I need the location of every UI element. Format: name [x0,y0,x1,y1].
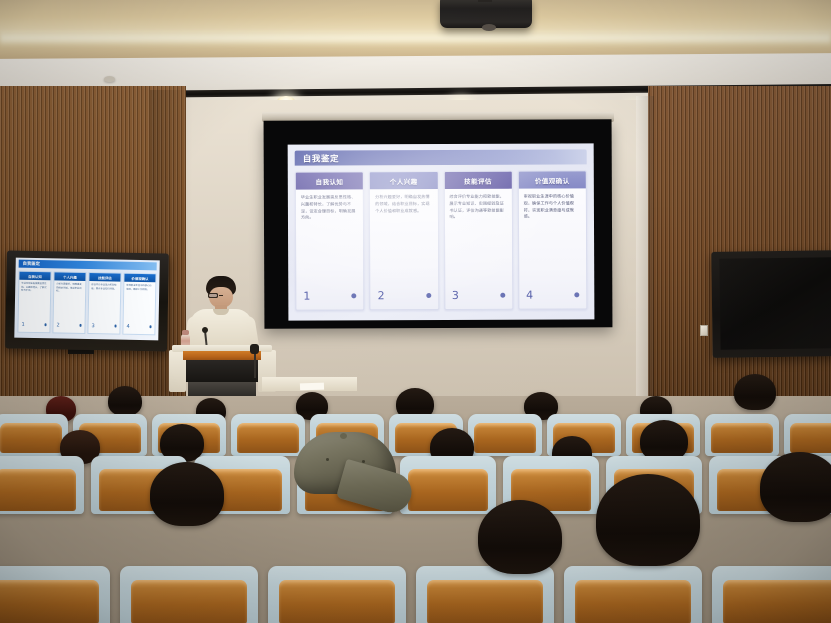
audience-head [760,452,831,522]
confidence-monitor-screen: 自我鉴定 自我认知 毕业生职业发展需反思性格、兴趣和特长，了解优势与不足。 1 … [14,258,160,341]
slide-card-body: 审视职业生涯中的核心价值观，确保工作与个人价值观符，实现职业满意度与成就感。 [519,188,587,284]
slide-card-footer: 1 [296,285,363,309]
water-bottle-cap [182,330,189,335]
lectern-wood-trim [183,351,261,360]
monitor-card-number: 1 [21,321,24,327]
slide-card-dot-icon [426,293,431,298]
slide-card-header-label: 价值观确认 [535,175,570,185]
monitor-card-number: 4 [126,323,129,329]
monitor-card: 自我认知 毕业生职业发展需反思性格、兴趣和特长，了解优势与不足。 1 [17,271,51,334]
ceiling-projector [440,0,532,28]
smoke-detector-icon [104,76,115,82]
slide-card-number: 3 [452,288,459,301]
slide-card-body: 分析兴趣爱好，明确自发热情的领域，结合职业目标，实现个人价值和职业成就感。 [370,189,438,285]
monitor-card-dot-icon [149,325,152,328]
monitor-card-row: 自我认知 毕业生职业发展需反思性格、兴趣和特长，了解优势与不足。 1 个人兴趣 … [17,271,156,336]
slide-card-header: 价值观确认 [519,171,586,188]
audience-head [150,462,224,526]
audience-member-with-cap [288,432,400,512]
wall-edge-right [636,96,654,402]
monitor-card: 个人兴趣 分析兴趣爱好，明确自发热情的领域，结合职业目标。 2 [52,271,86,334]
slide-card-header: 自我认知 [296,172,363,189]
slide-card-number: 2 [378,289,385,302]
slide-card-dot-icon [352,293,357,298]
microphone-icon [202,327,208,333]
auditorium-seat [120,566,258,623]
ceiling-cove-light [0,0,831,60]
projector-lens [482,24,496,31]
paper-on-table [300,383,324,391]
slide-card-header-label: 技能评估 [464,175,492,185]
confidence-monitor: 自我鉴定 自我认知 毕业生职业发展需反思性格、兴趣和特长，了解优势与不足。 1 … [5,250,169,351]
slide-card-row: 自我认知 毕业生职业发展需反思性格、兴趣和特长，了解优势与不足，设定合理目标，明… [295,170,588,310]
lecture-hall-photo: 自我鉴定 自我认知 毕业生职业发展需反思性格、兴趣和特长，了解优势与不足，设定合… [0,0,831,623]
monitor-card-dot-icon [44,323,47,326]
seat-row-near [0,566,831,623]
lectern-base [188,382,256,397]
slide-card-header: 技能评估 [444,172,511,189]
slide-card-footer: 3 [445,285,512,309]
auditorium-seat [400,456,496,514]
monitor-card-header-label: 自我认知 [28,273,42,278]
slide-card-number: 4 [526,288,533,301]
wall-tv-right [711,250,831,358]
auditorium-seat [564,566,702,623]
audience-head [478,500,562,574]
monitor-card-footer: 1 [18,319,49,333]
monitor-card-dot-icon [79,324,82,327]
glasses-icon [208,293,234,298]
slide-content: 自我鉴定 自我认知 毕业生职业发展需反思性格、兴趣和特长，了解优势与不足，设定合… [288,143,595,320]
auditorium-seat [705,414,779,456]
slide-card-body: 毕业生职业发展需反思性格、兴趣和特长，了解优势与不足，设定合理目标，明确发展方向… [296,189,364,285]
projected-slide-surface: 自我鉴定 自我认知 毕业生职业发展需反思性格、兴趣和特长，了解优势与不足，设定合… [288,143,595,320]
slide-card-dot-icon [500,292,505,297]
monitor-card-header-label: 个人兴趣 [63,274,77,279]
monitor-card-body: 综合评价专业能力和软技能，展示专业知识经验。 [89,281,121,321]
floor-microphone-icon [250,344,259,354]
auditorium-seat [712,566,831,623]
seat-row-far [0,414,831,456]
monitor-card-number: 2 [56,322,59,328]
monitor-card: 价值观确认 审视职业生涯中的核心价值观，确保工作相符。 4 [122,273,156,336]
lectern-front-panel [186,360,258,382]
seat-row-mid [0,456,831,514]
monitor-card-number: 3 [91,323,94,329]
monitor-card-header-label: 价值观确认 [131,275,148,280]
slide-card-body: 综合评价专业能力和软技能，展示专业知识、实践经验及证书认证，评估沟通等软技能影响… [444,189,512,285]
projection-screen: 自我鉴定 自我认知 毕业生职业发展需反思性格、兴趣和特长，了解优势与不足，设定合… [264,119,613,329]
monitor-card-header-label: 技能评估 [98,275,112,280]
slide-card: 价值观确认 审视职业生涯中的核心价值观，确保工作与个人价值观符，实现职业满意度与… [518,170,588,309]
auditorium-seat [468,414,542,456]
monitor-card-body: 审视职业生涯中的核心价值观，确保工作相符。 [124,282,156,322]
monitor-card-footer: 3 [88,320,119,334]
presenter [188,276,254,356]
slide-card: 自我认知 毕业生职业发展需反思性格、兴趣和特长，了解优势与不足，设定合理目标，明… [295,171,365,310]
auditorium-seat [0,566,110,623]
auditorium-seat [268,566,406,623]
slide-card-number: 1 [303,289,310,302]
monitor-card-footer: 2 [53,319,84,333]
slide-card-footer: 4 [519,284,586,308]
slide-card: 个人兴趣 分析兴趣爱好，明确自发热情的领域，结合职业目标，实现个人价值和职业成就… [369,171,439,310]
monitor-card-body: 分析兴趣爱好，明确自发热情的领域，结合职业目标。 [54,280,86,320]
auditorium-seat [0,456,84,514]
monitor-card-dot-icon [114,325,117,328]
slide-card-header: 个人兴趣 [370,172,437,189]
floor-microphone-stem [254,350,256,378]
monitor-card-footer: 4 [123,321,154,335]
auditorium-seat [784,414,831,456]
audience-head [108,386,142,416]
slide-card-dot-icon [574,292,579,297]
monitor-slide-title: 自我鉴定 [23,261,40,267]
baseball-cap-button [340,433,347,439]
monitor-card-body: 毕业生职业发展需反思性格、兴趣和特长，了解优势与不足。 [19,280,51,320]
slide-card-header-label: 个人兴趣 [390,176,418,186]
wall-tv-screen [719,257,831,350]
audience-head [734,374,776,410]
auditorium-seat [0,414,68,456]
slide-title-bar: 自我鉴定 [295,149,587,165]
monitor-card: 技能评估 综合评价专业能力和软技能，展示专业知识经验。 3 [87,272,121,335]
projector-mount [478,0,492,2]
wall-light-switch[interactable] [700,325,708,336]
audience-head [596,474,700,566]
slide-card-header-label: 自我认知 [316,176,344,186]
monitor-slide-title-bar: 自我鉴定 [19,260,157,271]
baseball-cap-eyelet [326,458,329,461]
slide-card: 技能评估 综合评价专业能力和软技能，展示专业知识、实践经验及证书认证，评估沟通等… [443,171,513,310]
slide-card-footer: 2 [371,285,438,309]
slide-title: 自我鉴定 [303,152,339,164]
auditorium-seat [416,566,554,623]
